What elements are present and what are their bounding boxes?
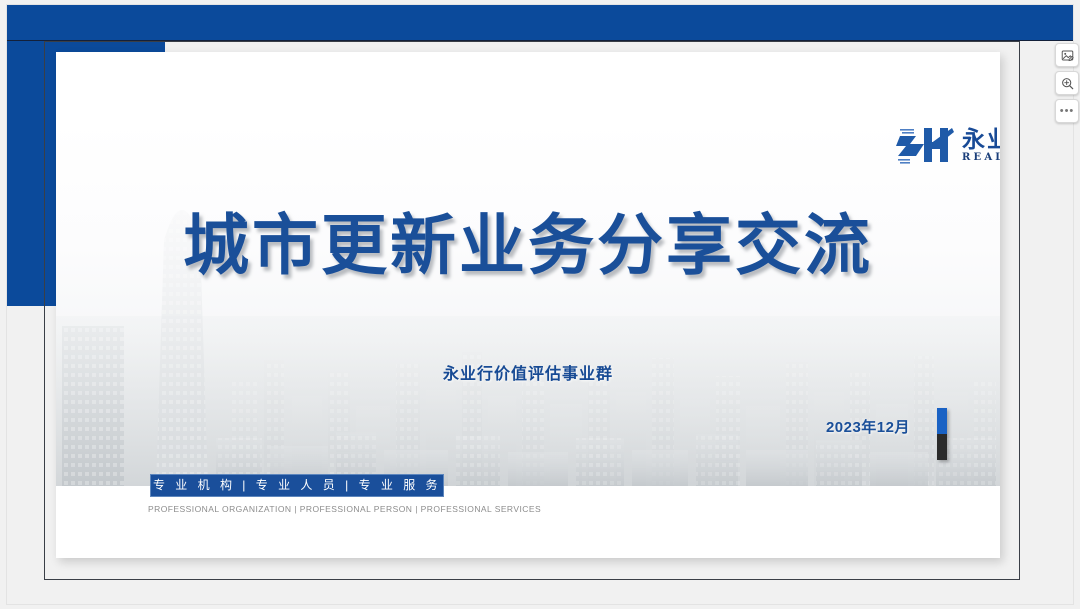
date-accent-bar-bottom xyxy=(937,434,947,460)
slide-title: 城市更新业务分享交流 xyxy=(56,192,1000,288)
logo-latin-name: REALHOM xyxy=(962,152,1000,163)
tagline-english: PROFESSIONAL ORGANIZATION | PROFESSIONAL… xyxy=(148,504,508,514)
decorative-band-divider xyxy=(7,40,1073,41)
image-edit-icon xyxy=(1061,49,1074,62)
zoom-in-button[interactable] xyxy=(1055,71,1079,95)
more-options-icon: ••• xyxy=(1060,106,1075,117)
slide-canvas[interactable]: 城市更新业务分享交流 永业行价值评估事业群 2023年12月 专 业 机 构 |… xyxy=(56,52,1000,558)
yh-monogram-icon xyxy=(894,122,956,168)
side-toolbar: ••• xyxy=(1055,43,1077,123)
image-edit-button[interactable] xyxy=(1055,43,1079,67)
slide-subtitle: 永业行价值评估事业群 xyxy=(56,360,1000,384)
tagline-banner: 专 业 机 构 | 专 业 人 员 | 专 业 服 务 xyxy=(150,474,444,497)
company-logo: 永业行 REALHOM xyxy=(894,120,1000,178)
slide-date: 2023年12月 xyxy=(56,416,1000,437)
date-accent-bar xyxy=(937,408,947,460)
logo-wordmark: 永业行 xyxy=(962,120,1000,154)
document-viewer: 城市更新业务分享交流 永业行价值评估事业群 2023年12月 专 业 机 构 |… xyxy=(0,0,1080,609)
date-accent-bar-top xyxy=(937,408,947,434)
decorative-blue-band-top xyxy=(7,5,1073,41)
more-options-button[interactable]: ••• xyxy=(1055,99,1079,123)
zoom-in-icon xyxy=(1061,77,1074,90)
